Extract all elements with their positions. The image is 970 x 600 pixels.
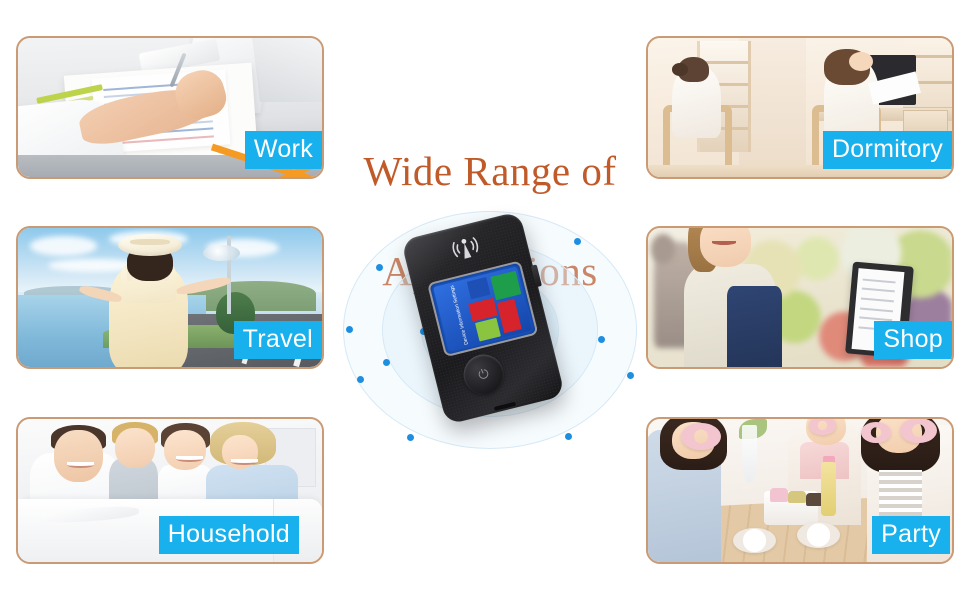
application-card-shop[interactable]: Shop bbox=[646, 226, 954, 369]
signal-dot bbox=[346, 326, 353, 333]
wifi-tile bbox=[490, 271, 521, 301]
data-tile bbox=[475, 318, 501, 342]
cloud bbox=[30, 236, 97, 255]
application-card-work[interactable]: Work bbox=[16, 36, 324, 179]
application-card-household[interactable]: Household bbox=[16, 417, 324, 564]
signal-dot bbox=[565, 433, 572, 440]
drink-bottle bbox=[821, 462, 836, 516]
child-one-face bbox=[115, 428, 155, 468]
sms-tile bbox=[497, 299, 522, 333]
battery-tile bbox=[467, 277, 491, 299]
signal-dot bbox=[383, 359, 390, 366]
screen-menu-text: Device Information Settings bbox=[449, 285, 470, 346]
signal-dot bbox=[627, 372, 634, 379]
teapot-saucer bbox=[733, 528, 776, 554]
cupcake bbox=[788, 491, 806, 504]
glass-vase bbox=[742, 425, 757, 482]
straw-hat bbox=[118, 234, 182, 256]
signal-dot bbox=[357, 376, 364, 383]
signal-dot bbox=[407, 434, 414, 441]
staff-face bbox=[700, 228, 752, 267]
card-label-work: Work bbox=[245, 131, 322, 169]
application-card-travel[interactable]: Travel bbox=[16, 226, 324, 369]
application-card-party[interactable]: Party bbox=[646, 417, 954, 564]
teacup-saucer bbox=[797, 522, 840, 548]
application-card-dormitory[interactable]: Dormitory bbox=[646, 36, 954, 179]
donut bbox=[900, 419, 936, 443]
power-icon: ⏻ bbox=[476, 365, 492, 384]
signal-dot bbox=[376, 264, 383, 271]
card-label-travel: Travel bbox=[234, 321, 322, 359]
cupcake bbox=[770, 488, 788, 502]
card-label-shop: Shop bbox=[874, 321, 952, 359]
card-label-household: Household bbox=[159, 516, 299, 554]
hat-band bbox=[130, 239, 170, 245]
infographic-canvas: Wide Range of Applications Work bbox=[0, 0, 970, 600]
signal-dot bbox=[598, 336, 605, 343]
signal-dot bbox=[574, 238, 581, 245]
father-face bbox=[54, 430, 103, 481]
screen-background: Device Information Settings bbox=[433, 266, 532, 351]
device-showcase: Device Information Settings ⏻ bbox=[330, 205, 650, 455]
card-label-party: Party bbox=[872, 516, 950, 554]
monitor-shape-2 bbox=[250, 38, 322, 102]
student-left-bun bbox=[672, 63, 687, 76]
page-title-line1: Wide Range of bbox=[330, 146, 650, 196]
lamp-glow bbox=[203, 245, 239, 262]
child-two-face bbox=[164, 430, 207, 470]
card-label-dormitory: Dormitory bbox=[823, 131, 952, 169]
staff-apron bbox=[727, 286, 782, 367]
